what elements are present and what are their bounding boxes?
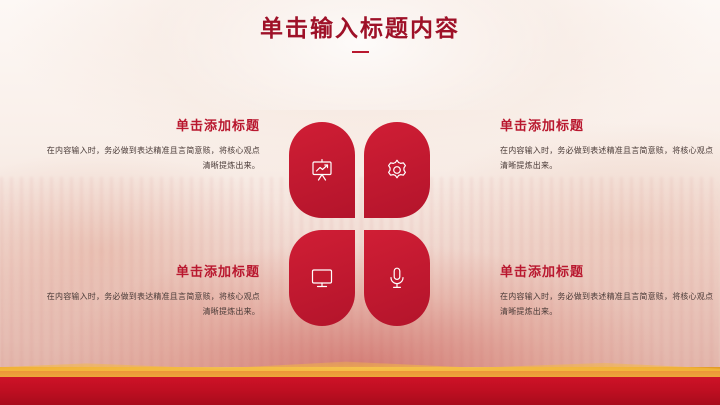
text-block-top-left: 单击添加标题 在内容输入时，务必做到表达精准且言简意赅，将核心观点清晰提炼出来。 xyxy=(42,118,260,173)
block-title: 单击添加标题 xyxy=(500,264,718,282)
block-title: 单击添加标题 xyxy=(42,118,260,136)
petal-bottom-left[interactable] xyxy=(289,230,355,326)
block-body: 在内容输入时，务必做到表达精准且言简意赅，将核心观点清晰提炼出来。 xyxy=(42,143,260,173)
block-title: 单击添加标题 xyxy=(500,118,718,136)
text-block-top-right: 单击添加标题 在内容输入时，务必做到表述精准且言简意赅，将核心观点清晰提炼出来。 xyxy=(500,118,718,173)
block-title: 单击添加标题 xyxy=(42,264,260,282)
block-body: 在内容输入时，务必做到表述精准且言简意赅，将核心观点清晰提炼出来。 xyxy=(500,289,718,319)
petal-cluster xyxy=(289,122,430,326)
petal-bottom-right[interactable] xyxy=(364,230,430,326)
block-body: 在内容输入时，务必做到表达精准且言简意赅，将核心观点清晰提炼出来。 xyxy=(42,289,260,319)
block-body: 在内容输入时，务必做到表述精准且言简意赅，将核心观点清晰提炼出来。 xyxy=(500,143,718,173)
slide-canvas: 单击输入标题内容 xyxy=(0,0,720,405)
title-underline xyxy=(352,51,369,53)
petal-top-left[interactable] xyxy=(289,122,355,218)
page-title: 单击输入标题内容 xyxy=(0,14,720,44)
bottom-red-ribbon xyxy=(0,371,720,405)
text-block-bottom-left: 单击添加标题 在内容输入时，务必做到表达精准且言简意赅，将核心观点清晰提炼出来。 xyxy=(42,264,260,319)
text-block-bottom-right: 单击添加标题 在内容输入时，务必做到表述精准且言简意赅，将核心观点清晰提炼出来。 xyxy=(500,264,718,319)
page-title-group: 单击输入标题内容 xyxy=(0,14,720,53)
petal-top-right[interactable] xyxy=(364,122,430,218)
